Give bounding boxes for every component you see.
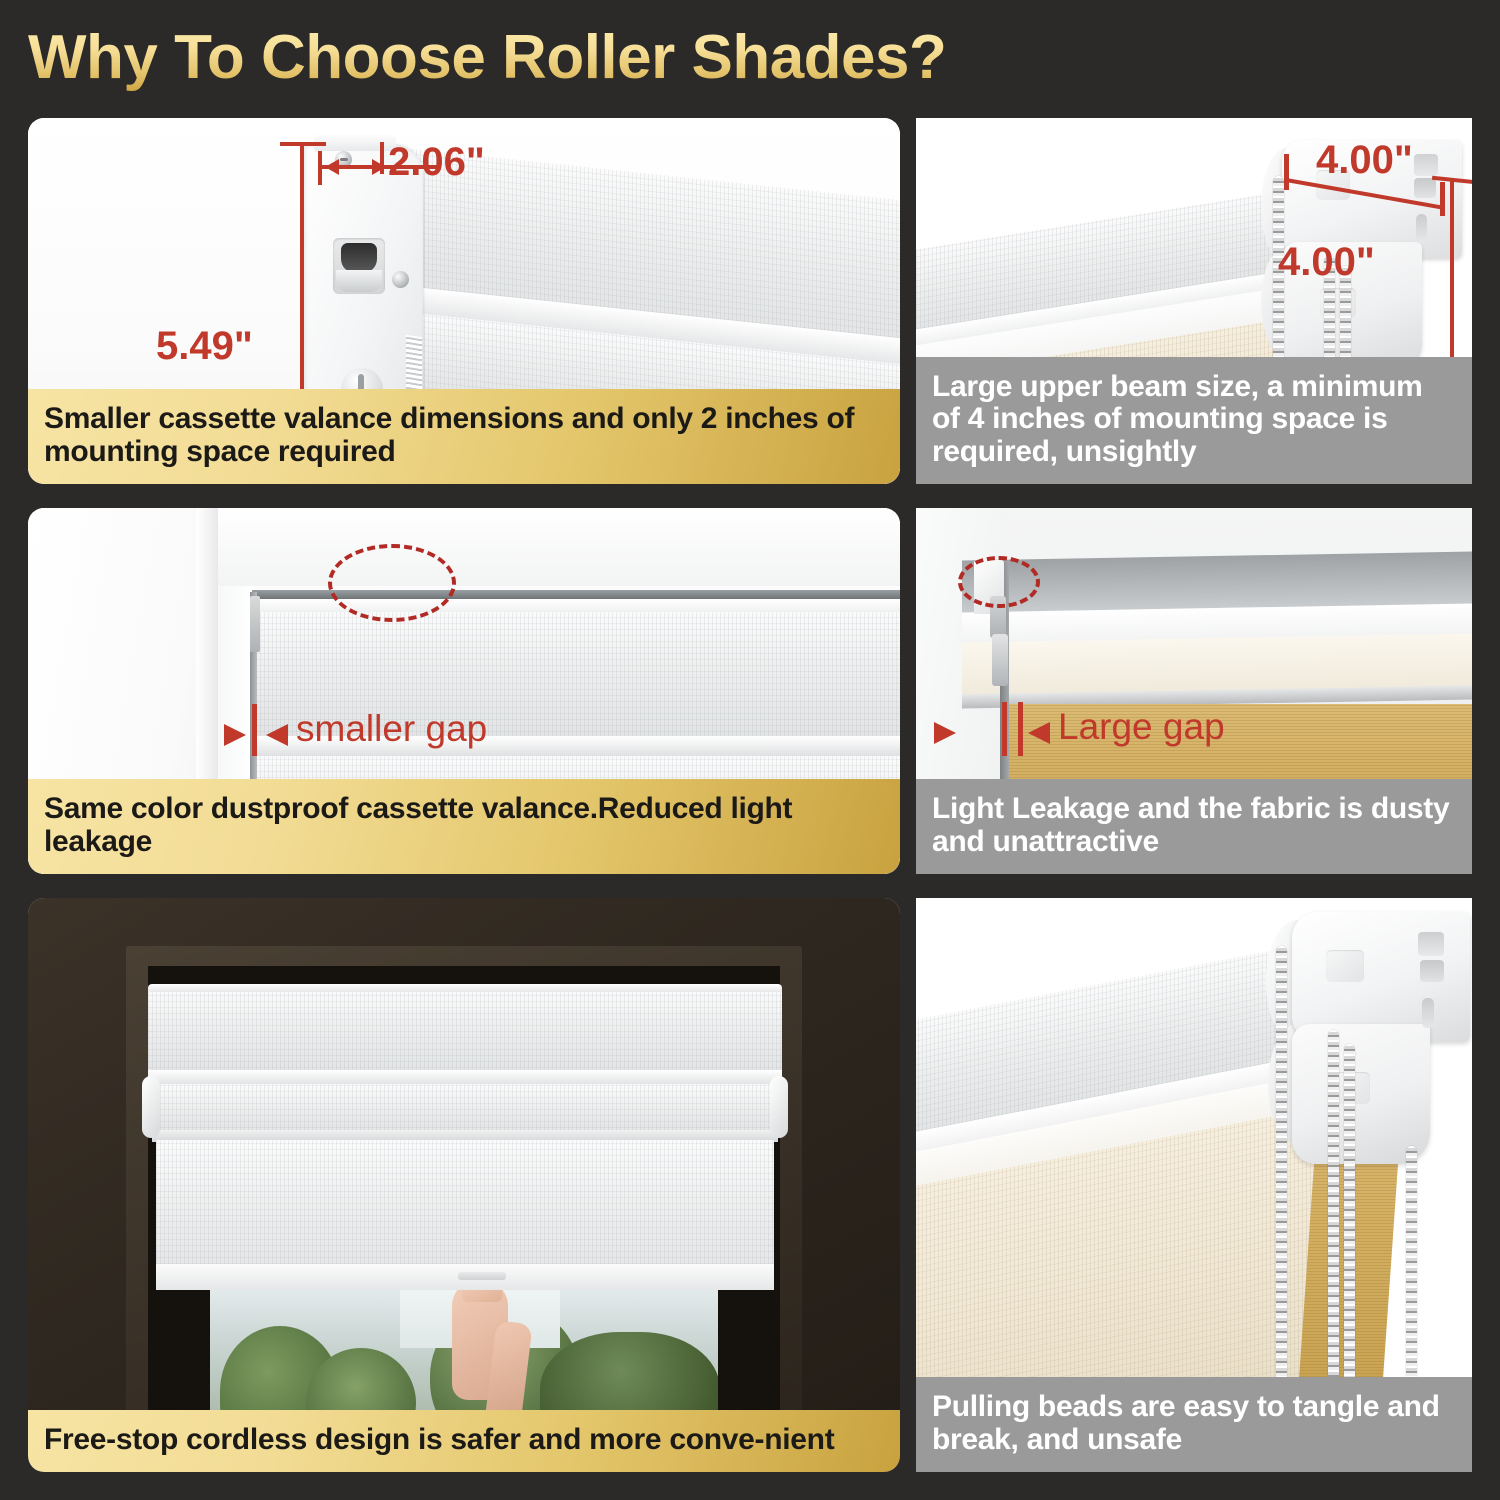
highlight-ellipse <box>958 556 1040 608</box>
gap-arrow-left <box>224 724 246 746</box>
height-dimension-label: 5.49" <box>156 324 253 369</box>
width-tick-left <box>1284 154 1289 190</box>
panel-mid-right: Large gap Light Leakage and the fabric i… <box>916 508 1472 874</box>
bead-chain-1 <box>1276 946 1287 1444</box>
panel-top-left: 2.06" 5.49" Smaller cassette valance dim… <box>28 118 900 484</box>
width-tick-right <box>1440 182 1445 216</box>
panel-bottom-left: Free-stop cordless design is safer and m… <box>28 898 900 1472</box>
panel-top-right-caption: Large upper beam size, a minimum of 4 in… <box>916 357 1472 484</box>
gap-arrow-right <box>266 724 288 746</box>
panel-mid-left-caption: Same color dustproof cassette valance.Re… <box>28 779 900 874</box>
panel-bottom-right-caption: Pulling beads are easy to tangle and bre… <box>916 1377 1472 1472</box>
gap-arrow-left <box>934 722 956 744</box>
gap-arrow-right <box>1028 722 1050 744</box>
width-tick-left <box>318 151 322 185</box>
width-dimension-label: 4.00" <box>1316 138 1413 183</box>
infographic-page: Why To Choose Roller Shades? <box>0 0 1500 1500</box>
width-arrow-left <box>325 159 339 175</box>
height-tick-top <box>280 142 326 146</box>
panel-bottom-left-caption: Free-stop cordless design is safer and m… <box>28 1410 900 1472</box>
gap-label: Large gap <box>1058 706 1225 748</box>
panel-top-left-caption: Smaller cassette valance dimensions and … <box>28 389 900 484</box>
width-arrow-right <box>372 159 386 175</box>
page-title: Why To Choose Roller Shades? <box>28 18 1228 98</box>
cassette-valance <box>148 988 782 1074</box>
panel-mid-right-caption: Light Leakage and the fabric is dusty an… <box>916 779 1472 874</box>
highlight-ellipse <box>328 544 456 622</box>
panel-mid-left: smaller gap Same color dustproof cassett… <box>28 508 900 874</box>
gap-tick-right <box>1018 702 1023 756</box>
height-dimension-line <box>1450 180 1454 376</box>
gap-label: smaller gap <box>296 708 487 750</box>
gap-tick <box>252 704 257 756</box>
width-dimension-label: 2.06" <box>388 140 485 185</box>
gap-tick-left <box>1002 702 1007 756</box>
panel-bottom-right: Pulling beads are easy to tangle and bre… <box>916 898 1472 1472</box>
height-dimension-label: 4.00" <box>1278 240 1375 285</box>
cordless-window-photo <box>28 898 900 1472</box>
panel-top-right: 4.00" 4.00" Large upper beam size, a min… <box>916 118 1472 484</box>
